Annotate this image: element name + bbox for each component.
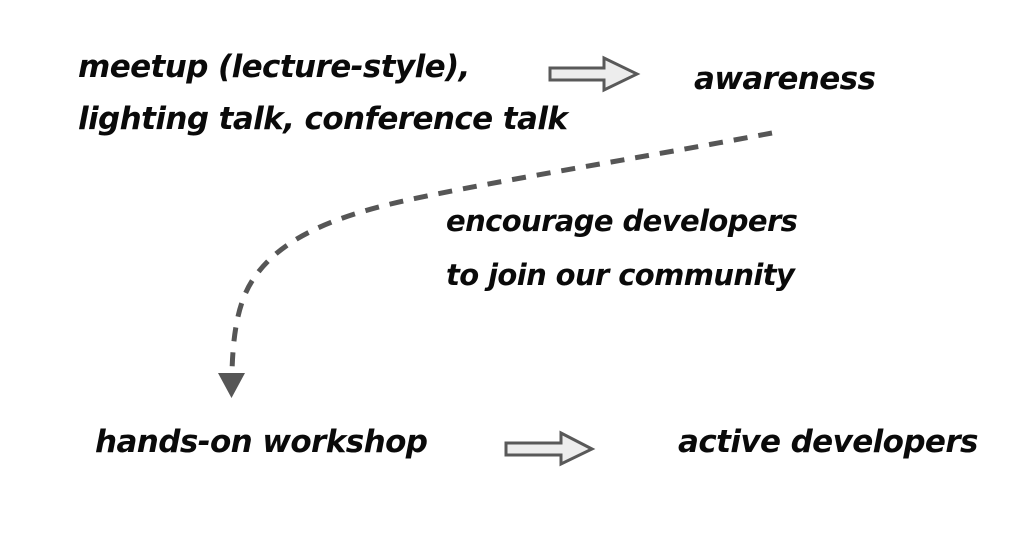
- node-label-active-developers: active developers: [678, 427, 978, 458]
- node-label-hands-on-workshop: hands-on workshop: [95, 427, 427, 458]
- block-arrow-top-shape: [550, 58, 637, 90]
- block-arrow-bottom-shape: [506, 433, 592, 464]
- node-label-awareness: awareness: [694, 64, 875, 95]
- curve-arrowhead-down-icon: [218, 373, 245, 398]
- diagram-canvas: meetup (lecture-style), lighting talk, c…: [0, 0, 1032, 534]
- annotation-label-line1: encourage developers: [446, 207, 797, 236]
- block-arrow-right-icon-top: [550, 58, 637, 90]
- node-label-meetup-line2: lighting talk, conference talk: [78, 104, 567, 135]
- dashed-curve-path: [232, 133, 772, 372]
- node-label-meetup-line1: meetup (lecture-style),: [78, 52, 470, 83]
- annotation-label-line2: to join our community: [446, 261, 794, 290]
- block-arrow-right-icon-bottom: [506, 433, 592, 464]
